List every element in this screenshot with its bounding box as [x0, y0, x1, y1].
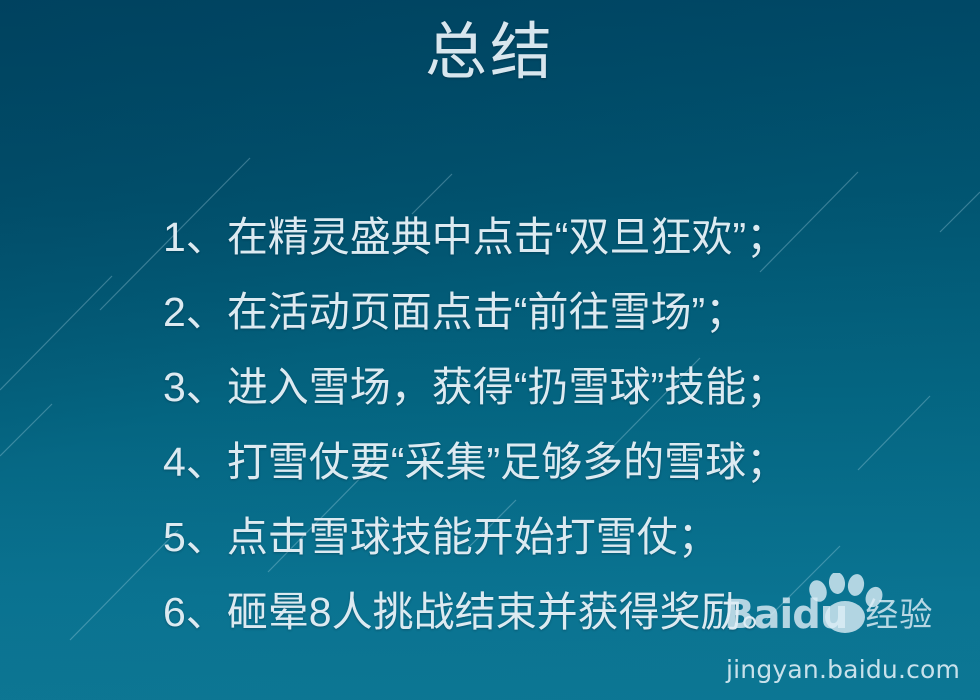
- list-item: 2、在活动页面点击“前往雪场”；: [163, 275, 923, 350]
- presentation-slide: 总结 1、在精灵盛典中点击“双旦狂欢”； 2、在活动页面点击“前往雪场”； 3、…: [0, 0, 980, 700]
- list-item-text: 在精灵盛典中点击“双旦狂欢”；: [227, 214, 787, 260]
- list-item: 4、打雪仗要“采集”足够多的雪球；: [163, 425, 923, 500]
- list-item-number: 4、: [163, 439, 227, 485]
- list-item: 6、砸晕8人挑战结束并获得奖励。: [163, 575, 923, 650]
- list-item-number: 1、: [163, 214, 227, 260]
- list-item-number: 6、: [163, 589, 227, 635]
- list-item-text: 打雪仗要“采集”足够多的雪球；: [227, 439, 787, 485]
- list-item-number: 3、: [163, 364, 227, 410]
- list-item-number: 5、: [163, 514, 227, 560]
- list-item: 1、在精灵盛典中点击“双旦狂欢”；: [163, 200, 923, 275]
- list-item-number: 2、: [163, 289, 227, 335]
- watermark-url: jingyan.baidu.com: [726, 655, 960, 684]
- list-item-text: 点击雪球技能开始打雪仗；: [227, 514, 719, 560]
- summary-list: 1、在精灵盛典中点击“双旦狂欢”； 2、在活动页面点击“前往雪场”； 3、进入雪…: [163, 200, 923, 650]
- list-item: 5、点击雪球技能开始打雪仗；: [163, 500, 923, 575]
- page-title: 总结: [0, 22, 980, 84]
- list-item: 3、进入雪场，获得“扔雪球”技能；: [163, 350, 923, 425]
- list-item-text: 砸晕8人挑战结束并获得奖励。: [227, 589, 783, 635]
- list-item-text: 进入雪场，获得“扔雪球”技能；: [227, 364, 787, 410]
- list-item-text: 在活动页面点击“前往雪场”；: [227, 289, 746, 335]
